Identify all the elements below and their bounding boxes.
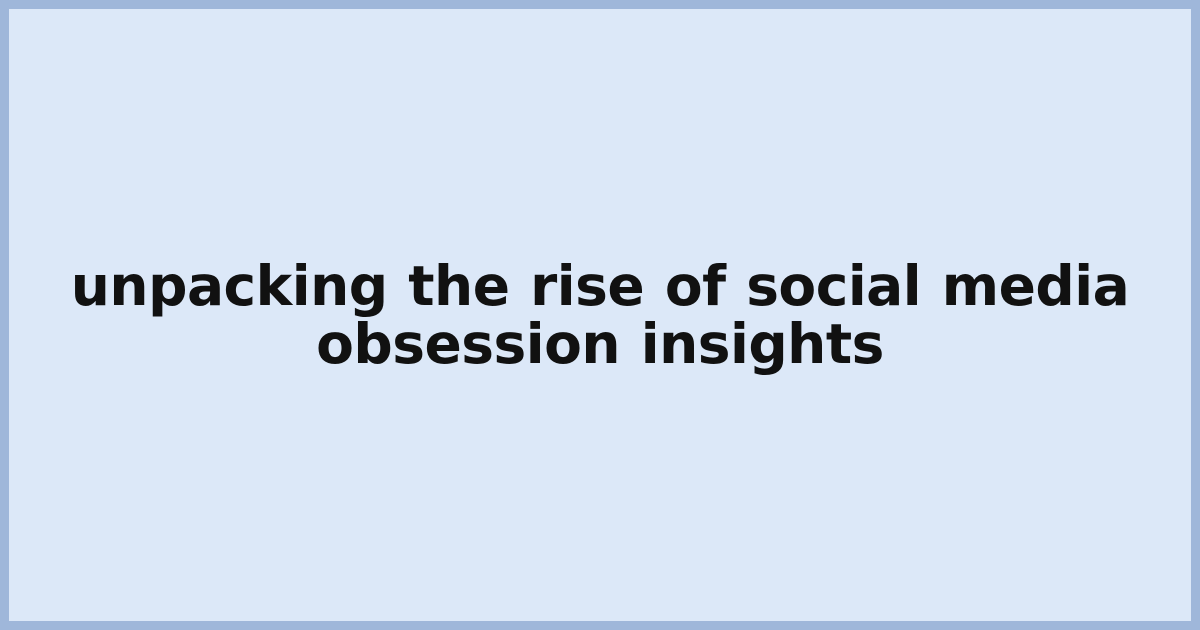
headline-container: unpacking the rise of social media obses… — [9, 257, 1191, 373]
page-title: unpacking the rise of social media obses… — [13, 257, 1187, 373]
title-card: unpacking the rise of social media obses… — [0, 0, 1200, 630]
